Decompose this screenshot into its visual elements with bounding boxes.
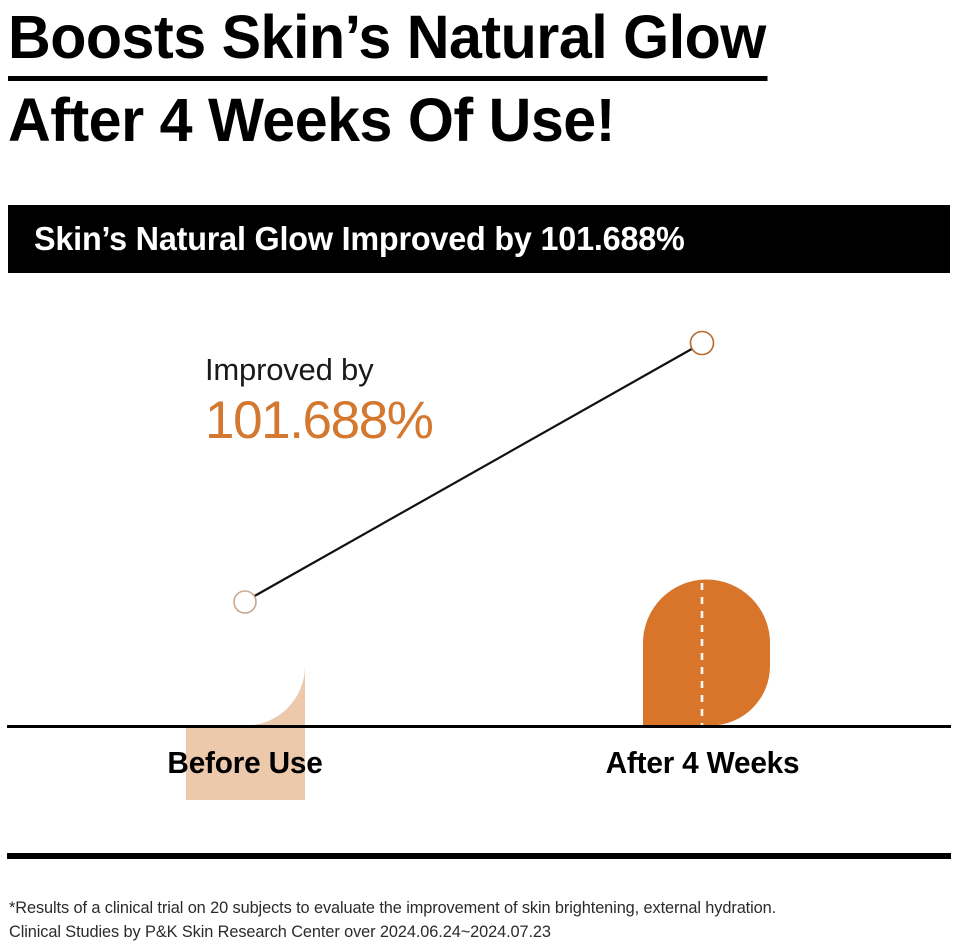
improvement-callout-value: 101.688% [205, 390, 535, 452]
footnote: *Results of a clinical trial on 20 subje… [9, 896, 939, 944]
chart-baseline-rule [7, 725, 951, 728]
headline-line-2: After 4 Weeks Of Use! [8, 81, 881, 159]
data-point-marker-before [234, 591, 256, 613]
axis-label-after-4-weeks: After 4 Weeks [566, 745, 840, 781]
footnote-line-2: Clinical Studies by P&K Skin Research Ce… [9, 920, 930, 944]
footer-divider-rule [7, 853, 951, 859]
headline-line-1: Boosts Skin’s Natural Glow [8, 0, 768, 81]
improvement-callout: Improved by 101.688% [205, 352, 535, 452]
headline-row-1: Boosts Skin’s Natural Glow [8, 0, 881, 81]
result-banner: Skin’s Natural Glow Improved by 101.688% [8, 205, 950, 273]
footnote-line-1: *Results of a clinical trial on 20 subje… [9, 896, 930, 920]
axis-label-before-use: Before Use [111, 745, 380, 781]
bar-chart: Improved by 101.688% [0, 290, 958, 800]
bar-after-4-weeks [643, 580, 770, 726]
page-title: Boosts Skin’s Natural Glow After 4 Weeks… [8, 0, 908, 159]
data-point-marker-after [691, 332, 714, 355]
result-banner-text: Skin’s Natural Glow Improved by 101.688% [34, 220, 685, 258]
improvement-callout-label: Improved by [205, 352, 535, 388]
